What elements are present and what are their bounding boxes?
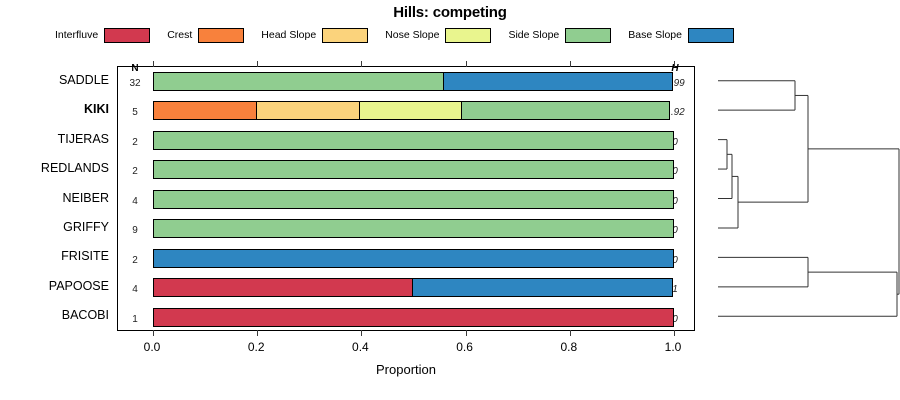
stacked-bar[interactable] — [153, 131, 674, 150]
legend-color-swatch — [565, 28, 611, 43]
bar-segment[interactable] — [153, 72, 445, 91]
x-axis-tick-mark — [570, 61, 571, 67]
row-n-value: 32 — [120, 78, 150, 89]
legend-color-swatch — [445, 28, 491, 43]
legend-item-label: Nose Slope — [385, 29, 439, 41]
legend-color-swatch — [104, 28, 150, 43]
row-n-value: 9 — [120, 225, 150, 236]
legend-item: Crest — [167, 28, 244, 43]
y-axis-label: SADDLE — [0, 73, 109, 87]
bar-row: 41 — [118, 273, 694, 302]
row-n-value: 4 — [120, 284, 150, 295]
bar-segment[interactable] — [153, 278, 414, 297]
bar-segment[interactable] — [153, 101, 257, 120]
dendrogram — [695, 60, 900, 345]
legend-item: Nose Slope — [385, 28, 491, 43]
x-axis-tick-label: 0.2 — [236, 340, 276, 354]
y-axis-labels: SADDLEKIKITIJERASREDLANDSNEIBERGRIFFYFRI… — [0, 66, 113, 331]
x-axis-tick-label: 0.0 — [132, 340, 172, 354]
x-axis: 0.00.20.40.60.81.0 — [117, 331, 695, 361]
chart-page: Hills: competing InterfluveCrestHead Slo… — [0, 0, 900, 400]
bar-row: 20 — [118, 155, 694, 184]
legend-item: Base Slope — [628, 28, 734, 43]
x-axis-tick-mark — [153, 61, 154, 67]
legend-color-swatch — [322, 28, 368, 43]
bar-segment[interactable] — [153, 219, 674, 238]
legend-item-label: Head Slope — [261, 29, 316, 41]
legend-item-label: Interfluve — [55, 29, 98, 41]
bar-segment[interactable] — [153, 308, 674, 327]
stacked-bar[interactable] — [153, 101, 674, 120]
x-axis-tick-label: 0.6 — [445, 340, 485, 354]
bar-segment[interactable] — [461, 101, 669, 120]
bar-segment[interactable] — [359, 101, 463, 120]
legend-item: Side Slope — [508, 28, 611, 43]
legend-item: Interfluve — [55, 28, 150, 43]
row-n-value: 1 — [120, 314, 150, 325]
bar-segment[interactable] — [153, 190, 674, 209]
bar-segment[interactable] — [412, 278, 673, 297]
bar-row: 51.92 — [118, 96, 694, 125]
stacked-bar[interactable] — [153, 72, 674, 91]
row-n-value: 2 — [120, 137, 150, 148]
bar-row: 10 — [118, 303, 694, 332]
legend-color-swatch — [198, 28, 244, 43]
plot-panel: N H 320.9951.9220204090204110 — [117, 66, 695, 331]
legend-item: Head Slope — [261, 28, 368, 43]
row-n-value: 2 — [120, 255, 150, 266]
bar-segment[interactable] — [256, 101, 360, 120]
y-axis-label: FRISITE — [0, 249, 109, 263]
x-axis-tick-mark — [257, 61, 258, 67]
bar-row: 320.99 — [118, 67, 694, 96]
legend-item-label: Crest — [167, 29, 192, 41]
x-axis-tick-mark — [466, 61, 467, 67]
stacked-bar[interactable] — [153, 219, 674, 238]
bar-row: 90 — [118, 214, 694, 243]
row-n-value: 5 — [120, 107, 150, 118]
legend-item-label: Side Slope — [508, 29, 559, 41]
x-axis-tick-mark — [674, 61, 675, 67]
row-n-value: 2 — [120, 166, 150, 177]
stacked-bar[interactable] — [153, 308, 674, 327]
legend-item-label: Base Slope — [628, 29, 682, 41]
stacked-bar[interactable] — [153, 160, 674, 179]
bar-rows: 320.9951.9220204090204110 — [118, 67, 694, 330]
bar-segment[interactable] — [153, 160, 674, 179]
x-axis-title: Proportion — [117, 362, 695, 377]
stacked-bar[interactable] — [153, 249, 674, 268]
x-axis-tick-label: 0.8 — [549, 340, 589, 354]
bar-row: 20 — [118, 244, 694, 273]
stacked-bar[interactable] — [153, 278, 674, 297]
legend: InterfluveCrestHead SlopeNose SlopeSide … — [55, 25, 845, 45]
bar-segment[interactable] — [153, 131, 674, 150]
row-n-value: 4 — [120, 196, 150, 207]
page-title: Hills: competing — [0, 4, 900, 21]
bar-segment[interactable] — [153, 249, 674, 268]
bar-row: 20 — [118, 126, 694, 155]
legend-color-swatch — [688, 28, 734, 43]
y-axis-label: PAPOOSE — [0, 279, 109, 293]
x-axis-tick-label: 1.0 — [653, 340, 693, 354]
bar-row: 40 — [118, 185, 694, 214]
y-axis-label: TIJERAS — [0, 132, 109, 146]
y-axis-label: NEIBER — [0, 191, 109, 205]
y-axis-label: REDLANDS — [0, 161, 109, 175]
x-axis-tick-mark — [361, 61, 362, 67]
y-axis-label: BACOBI — [0, 308, 109, 322]
y-axis-label: KIKI — [0, 102, 109, 116]
bar-segment[interactable] — [443, 72, 672, 91]
y-axis-label: GRIFFY — [0, 220, 109, 234]
stacked-bar[interactable] — [153, 190, 674, 209]
x-axis-tick-label: 0.4 — [340, 340, 380, 354]
